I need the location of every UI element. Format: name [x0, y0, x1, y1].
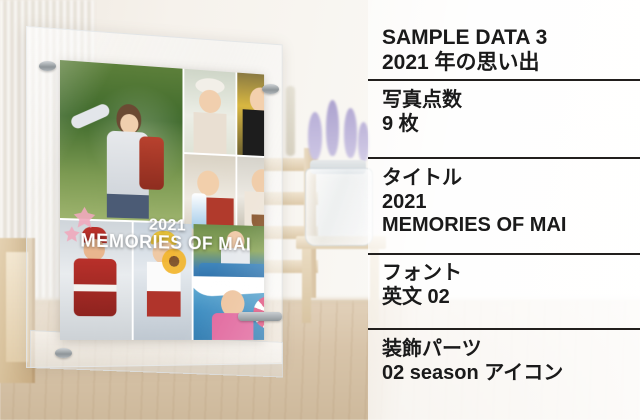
screenshot-root: 2021 MEMORIES OF MAI SAMPLE DATA 3 2021 …	[0, 0, 640, 420]
collage-cell-gym-uniform	[134, 222, 192, 340]
spec-divider-3	[368, 253, 640, 255]
spec-value-font: 英文 02	[382, 286, 640, 310]
dried-stem	[286, 86, 295, 156]
spec-divider-4	[368, 328, 640, 330]
spec-header-subtitle: 2021 年の思い出	[382, 51, 640, 76]
spec-value-title-text: MEMORIES OF MAI	[382, 214, 640, 238]
spec-value-photo-count: 9 枚	[382, 113, 640, 137]
wooden-box-inner	[6, 252, 28, 362]
glass-jar	[305, 168, 373, 246]
spec-label-photo-count: 写真点数	[382, 89, 640, 113]
spec-header-title: SAMPLE DATA 3	[382, 26, 640, 51]
lavender-flower	[326, 100, 339, 156]
spec-divider-1	[368, 79, 640, 81]
spec-label-font: フォント	[382, 262, 640, 286]
spec-row-title: タイトル 2021 MEMORIES OF MAI	[368, 167, 640, 238]
collage-cell-school-uniform	[60, 60, 182, 222]
spec-row-decoration-parts: 装飾パーツ 02 season アイコン	[368, 338, 640, 385]
spec-panel: SAMPLE DATA 3 2021 年の思い出 写真点数 9 枚 タイトル 2…	[368, 0, 640, 420]
sunflower-decoration	[162, 248, 186, 274]
spec-value-title-year: 2021	[382, 191, 640, 215]
lavender-flower	[344, 108, 357, 158]
spec-label-decoration-parts: 装飾パーツ	[382, 338, 640, 362]
spec-row-font: フォント 英文 02	[368, 262, 640, 309]
collage-cell-white-hat	[184, 69, 235, 155]
frame-stand-bracket	[238, 312, 282, 321]
spec-row-photo-count: 写真点数 9 枚	[368, 89, 640, 136]
spec-label-title: タイトル	[382, 167, 640, 191]
frame-screw-top-right	[262, 84, 279, 94]
lavender-flower	[308, 112, 322, 160]
collage-cell-yellow-shirt	[237, 73, 264, 158]
spec-value-decoration-parts: 02 season アイコン	[382, 362, 640, 386]
spec-divider-2	[368, 157, 640, 159]
collage-cell-pool-pinwheel	[194, 276, 265, 340]
frame-screw-bottom-left	[55, 348, 72, 358]
spec-header: SAMPLE DATA 3 2021 年の思い出	[368, 26, 640, 76]
photo-collage-print: 2021 MEMORIES OF MAI	[60, 60, 264, 340]
frame-screw-top-left	[39, 61, 56, 71]
